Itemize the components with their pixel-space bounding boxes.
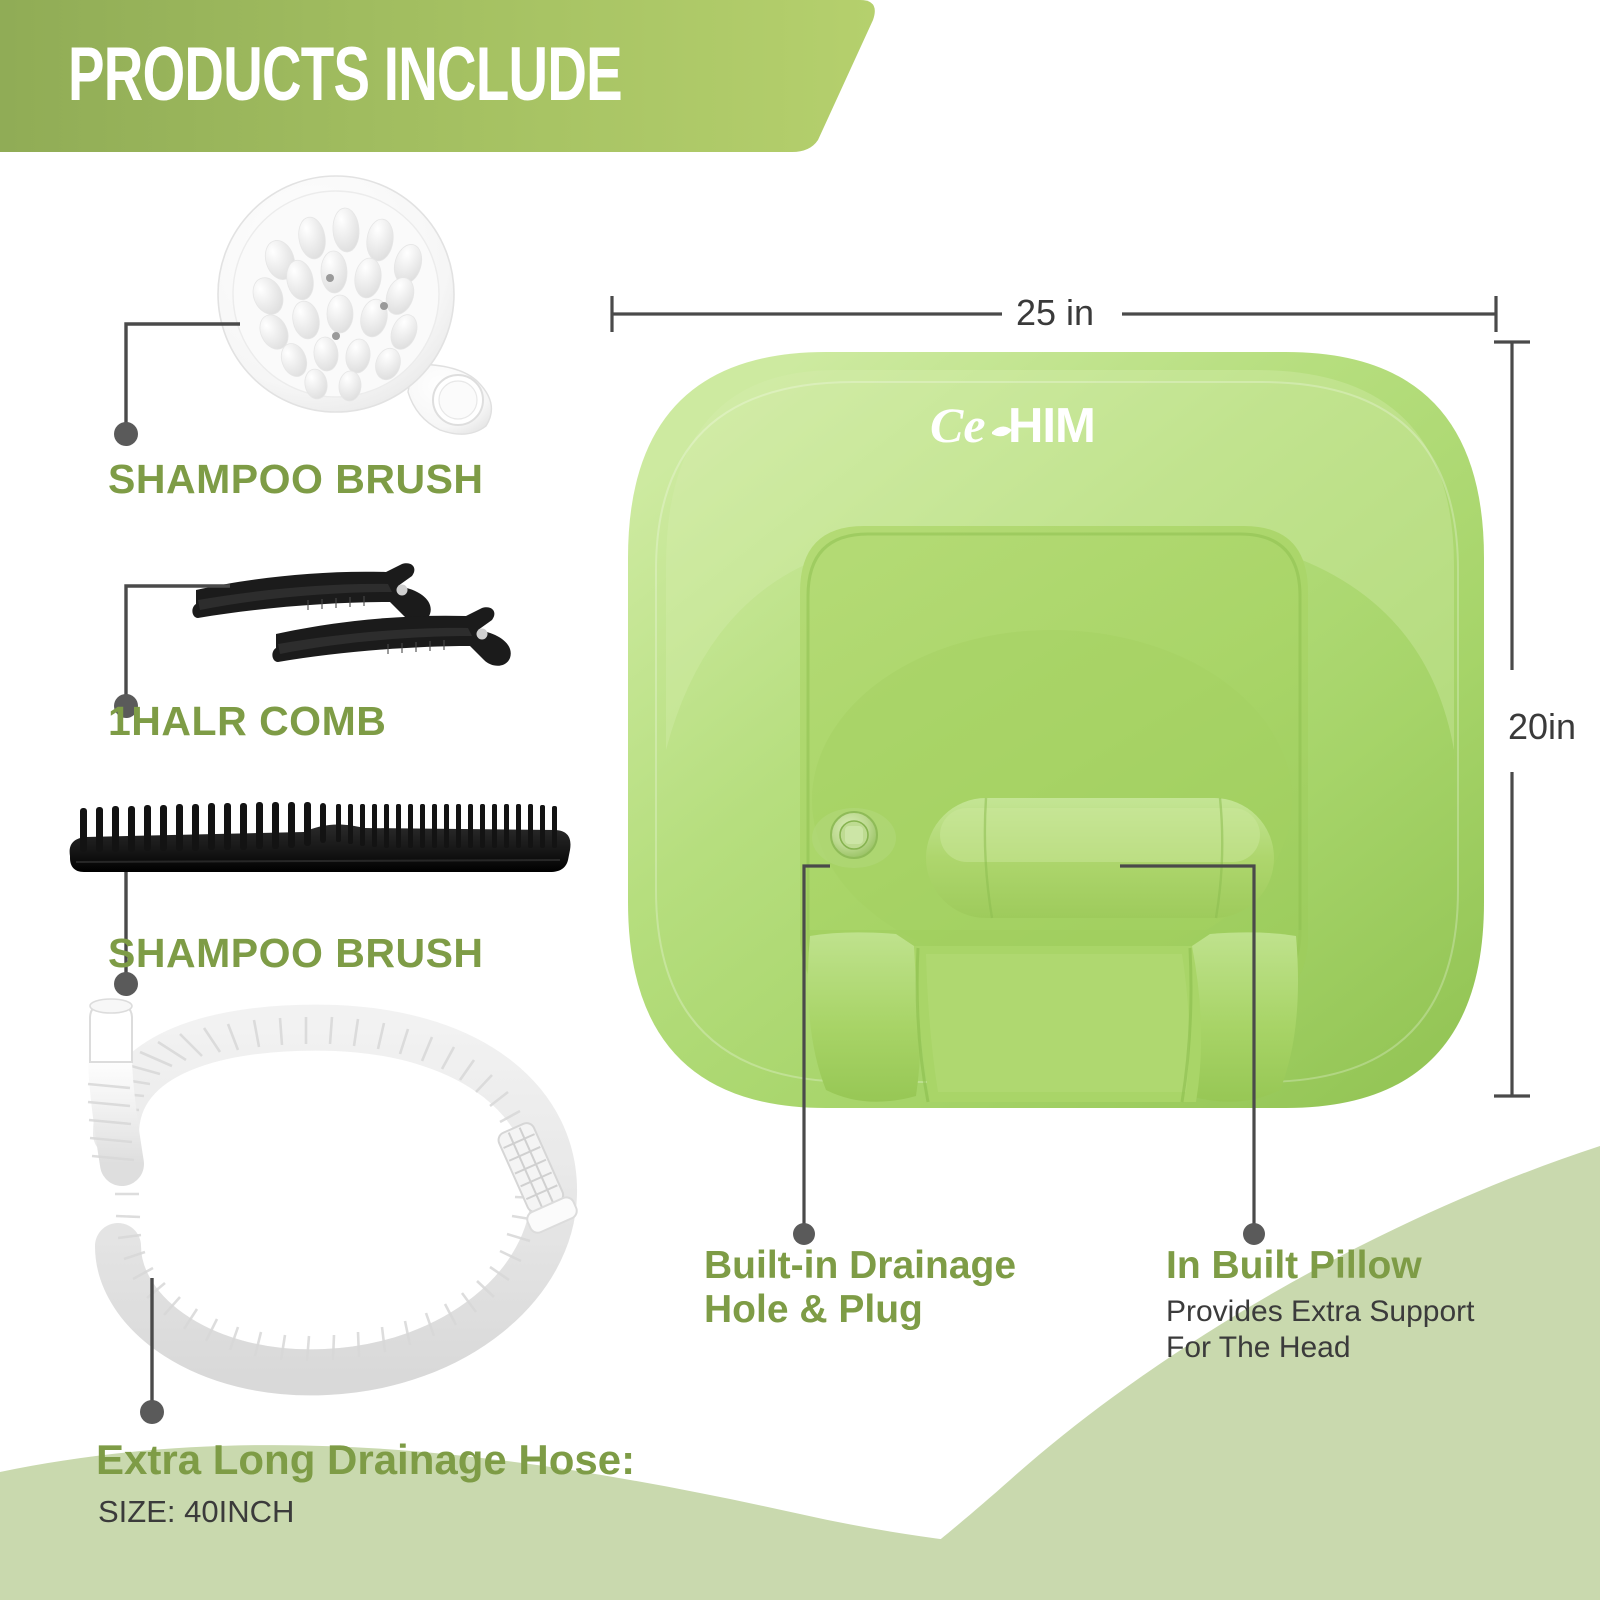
callout-title-drainage: Built-in Drainage Hole & Plug bbox=[704, 1244, 1016, 1333]
infographic-canvas: PRODUCTS INCLUDE bbox=[0, 0, 1600, 1600]
dimension-label-height: 20in bbox=[1508, 706, 1576, 748]
dimension-label-width: 25 in bbox=[1016, 292, 1094, 334]
product-label-3: SHAMPOO BRUSH bbox=[108, 932, 484, 975]
product-label-4: Extra Long Drainage Hose: bbox=[96, 1438, 635, 1483]
brand-logo: Ce HIM bbox=[930, 392, 1130, 462]
header-banner: PRODUCTS INCLUDE bbox=[0, 0, 900, 152]
leader-line-drainage-hole bbox=[790, 862, 830, 1252]
shampoo-brush-icon bbox=[208, 168, 538, 440]
product-label-2: 1HALR COMB bbox=[108, 700, 386, 743]
product-label-1: SHAMPOO BRUSH bbox=[108, 458, 484, 501]
callout-sub-pillow: Provides Extra Support For The Head bbox=[1166, 1294, 1474, 1366]
brand-script-part: Ce bbox=[930, 397, 986, 453]
leader-line-drainage-hose bbox=[110, 1278, 250, 1428]
leader-line-shampoo-brush bbox=[110, 318, 250, 448]
brand-bold-part: HIM bbox=[1008, 399, 1095, 453]
comb-icon bbox=[64, 786, 574, 878]
callout-title-pillow: In Built Pillow bbox=[1166, 1244, 1422, 1288]
page-title: PRODUCTS INCLUDE bbox=[68, 22, 630, 127]
drainage-plug bbox=[812, 808, 896, 868]
product-sublabel-4: SIZE: 40INCH bbox=[98, 1494, 294, 1531]
leader-line-pillow bbox=[1120, 862, 1280, 1252]
